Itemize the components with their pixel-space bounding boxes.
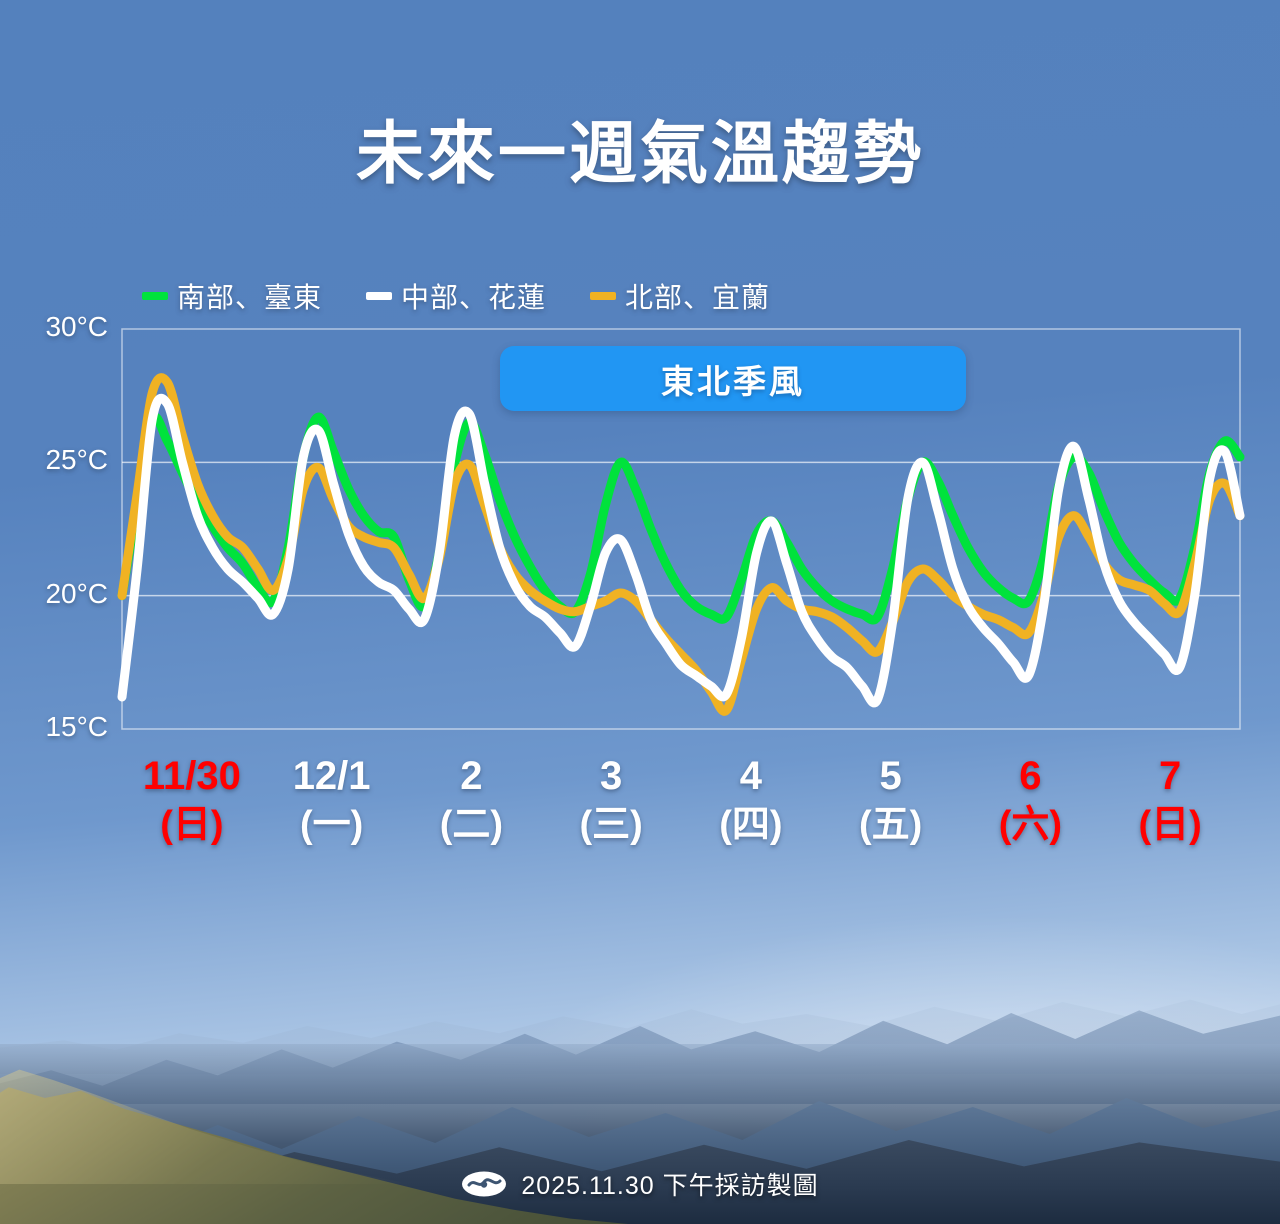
y-axis-tick-label: 30°C [18,311,108,343]
day-date: 7 [1090,752,1250,800]
cwa-logo-icon [461,1169,507,1199]
day-date: 12/1 [252,752,412,800]
monsoon-banner: 東北季風 [500,346,966,411]
day-weekday: (一) [252,800,412,850]
x-axis-day-label: 7(日) [1090,752,1250,850]
y-axis-tick-label: 25°C [18,444,108,476]
day-date: 11/30 [112,752,272,800]
day-date: 2 [391,752,551,800]
day-weekday: (二) [391,800,551,850]
x-axis-day-label: 12/1(一) [252,752,412,850]
y-axis-tick-label: 20°C [18,578,108,610]
day-weekday: (日) [112,800,272,850]
day-weekday: (四) [671,800,831,850]
x-axis-day-label: 2(二) [391,752,551,850]
day-weekday: (日) [1090,800,1250,850]
day-date: 5 [811,752,971,800]
x-axis-day-label: 6(六) [950,752,1110,850]
day-date: 3 [531,752,691,800]
footer-text: 2025.11.30 下午採訪製圖 [521,1166,818,1202]
day-weekday: (六) [950,800,1110,850]
day-date: 6 [950,752,1110,800]
day-weekday: (三) [531,800,691,850]
x-axis-day-label: 3(三) [531,752,691,850]
x-axis-day-label: 4(四) [671,752,831,850]
footer: 2025.11.30 下午採訪製圖 [0,1166,1280,1202]
day-weekday: (五) [811,800,971,850]
x-axis-day-labels: 11/30(日)12/1(一)2(二)3(三)4(四)5(五)6(六)7(日) [0,752,1280,862]
monsoon-banner-label: 東北季風 [661,355,805,403]
x-axis-day-label: 5(五) [811,752,971,850]
x-axis-day-label: 11/30(日) [112,752,272,850]
y-axis-tick-label: 15°C [18,711,108,743]
day-date: 4 [671,752,831,800]
